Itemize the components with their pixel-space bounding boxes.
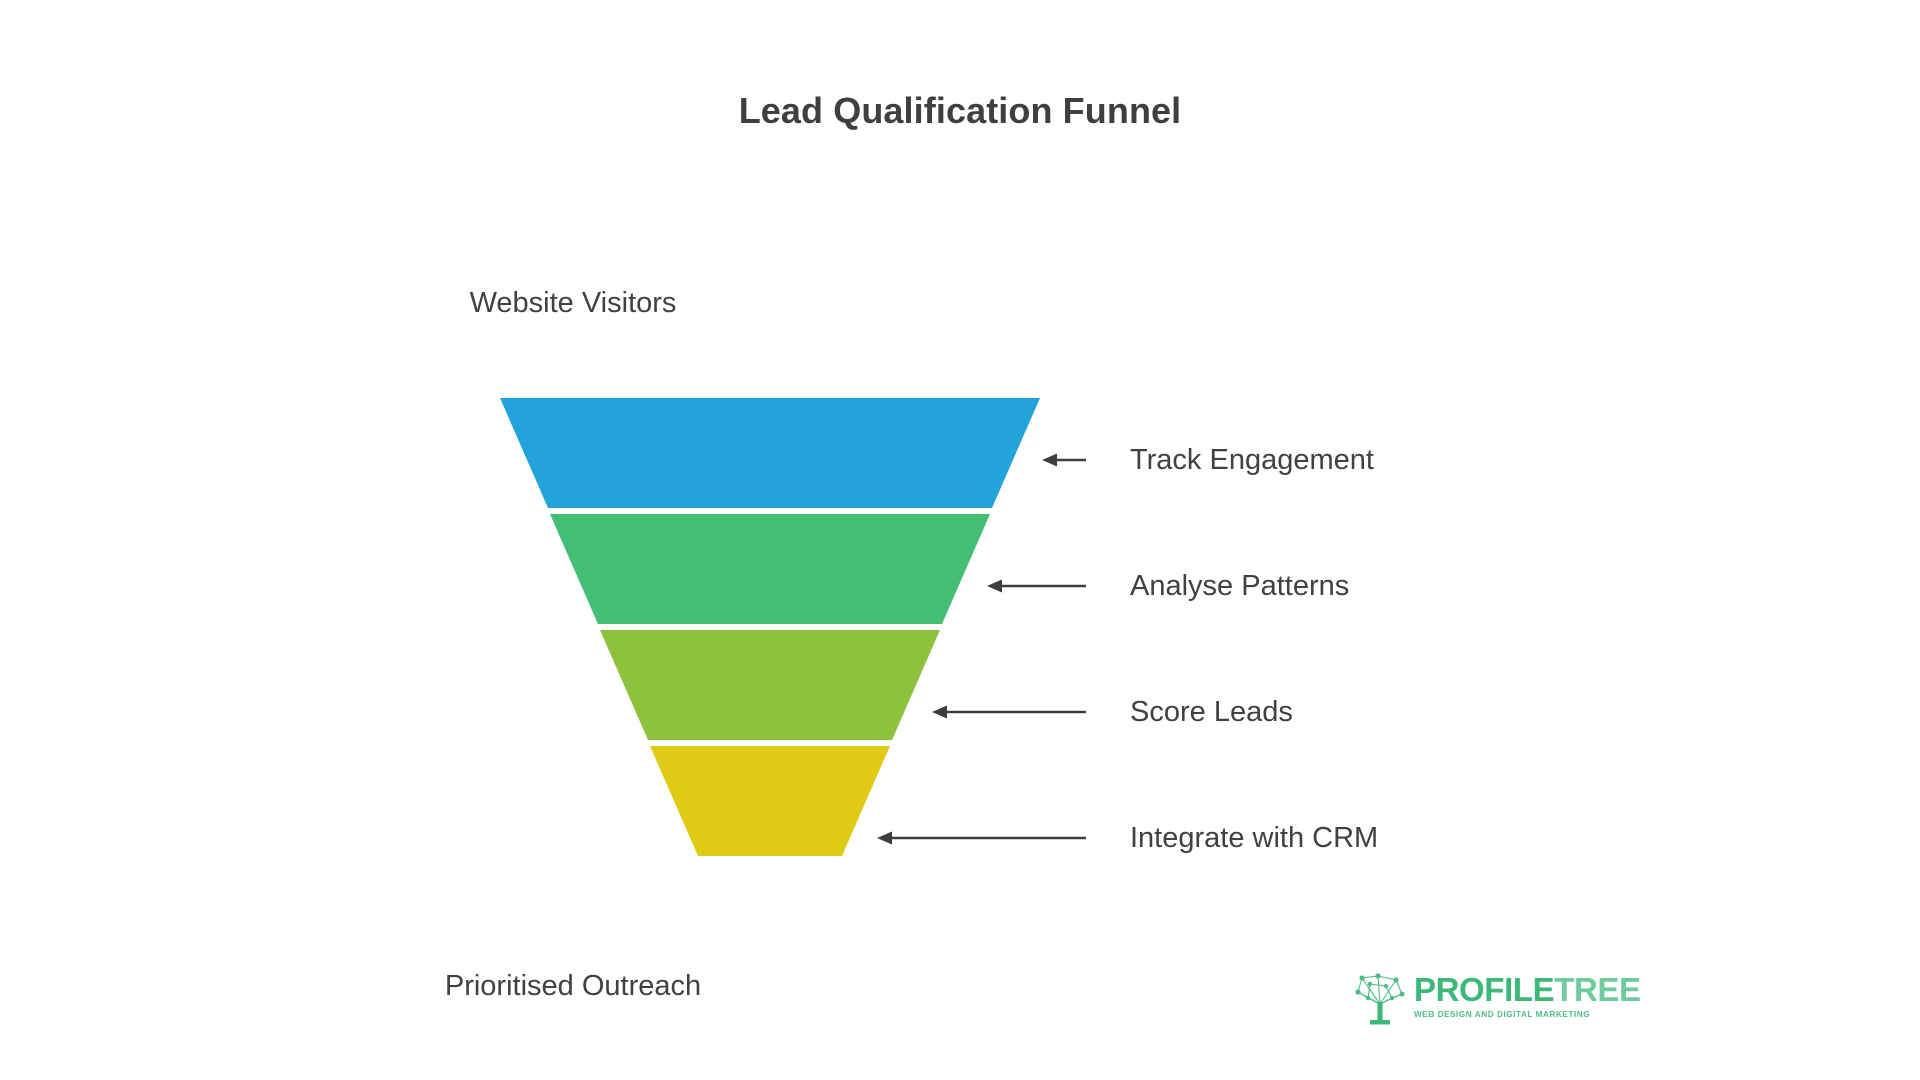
- funnel-diagram-canvas: Lead Qualification Funnel Website Visito…: [0, 0, 1920, 1080]
- arrow-left-icon: [930, 701, 1088, 723]
- funnel-stage-label-1: Track Engagement: [1130, 446, 1374, 475]
- profiletree-logo: PROFILETREE WEB DESIGN AND DIGITAL MARKE…: [1348, 960, 1600, 1032]
- funnel-stage-label-4: Integrate with CRM: [1130, 824, 1378, 853]
- funnel-segment-4[interactable]: [650, 746, 890, 856]
- funnel-segment-3[interactable]: [600, 630, 940, 740]
- funnel-stage-label-2: Analyse Patterns: [1130, 572, 1349, 601]
- page-title: Lead Qualification Funnel: [0, 90, 1920, 132]
- arrow-left-icon: [985, 575, 1088, 597]
- funnel-bottom-label: Prioritised Outreach: [403, 970, 743, 1003]
- logo-word-primary: PROFILE: [1414, 971, 1554, 1008]
- funnel-callout-1: Track Engagement: [1040, 440, 1374, 480]
- funnel-callout-2: Analyse Patterns: [985, 566, 1349, 606]
- funnel-segment-1[interactable]: [500, 398, 1040, 508]
- funnel-top-label: Website Visitors: [403, 287, 743, 320]
- funnel-stage-label-3: Score Leads: [1130, 698, 1293, 727]
- logo-text: PROFILETREE WEB DESIGN AND DIGITAL MARKE…: [1414, 973, 1641, 1019]
- funnel-callout-4: Integrate with CRM: [875, 818, 1378, 858]
- logo-tagline: WEB DESIGN AND DIGITAL MARKETING: [1414, 1010, 1641, 1019]
- logo-word-secondary: TREE: [1554, 971, 1640, 1008]
- tree-icon: [1348, 964, 1412, 1028]
- funnel-callout-3: Score Leads: [930, 692, 1293, 732]
- arrow-left-icon: [875, 827, 1088, 849]
- arrow-left-icon: [1040, 449, 1088, 471]
- logo-wordmark: PROFILETREE: [1414, 973, 1641, 1006]
- funnel-segment-2[interactable]: [550, 514, 990, 624]
